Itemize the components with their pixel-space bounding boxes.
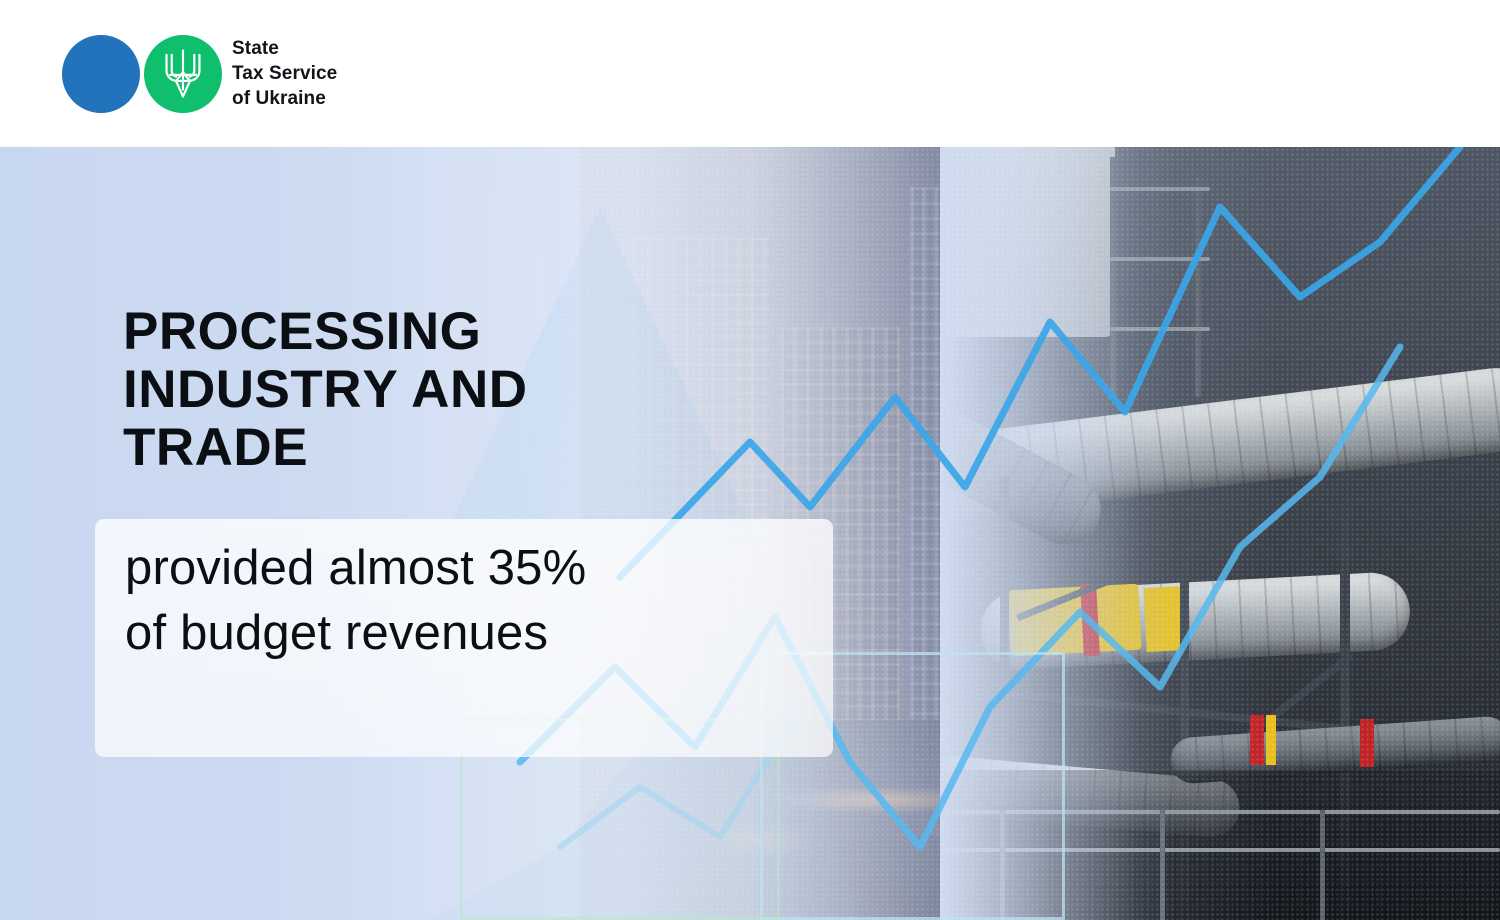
headline-line-2-a: INDUSTR: [123, 360, 362, 419]
headline-line-1: PROCESSING: [123, 302, 481, 361]
blue-circle-icon: [62, 35, 140, 113]
site-header: State Tax Service of Ukraine: [0, 0, 1500, 147]
logo-lockup[interactable]: State Tax Service of Ukraine: [62, 35, 337, 113]
headline-line-2-b: AND: [398, 360, 528, 419]
ukraine-trident-icon: [157, 48, 209, 100]
poster-canvas: PROCESSINGINDUSTRY ANDTRADE provided alm…: [0, 0, 1500, 920]
organization-name: State Tax Service of Ukraine: [232, 36, 337, 111]
headline-mirrored-y: Y: [362, 361, 398, 419]
headline-line-3: TRADE: [123, 418, 308, 477]
page-title: PROCESSINGINDUSTRY ANDTRADE: [123, 303, 528, 477]
logo-marks: [62, 35, 222, 113]
subtitle-text: provided almost 35% of budget revenues: [125, 536, 586, 666]
